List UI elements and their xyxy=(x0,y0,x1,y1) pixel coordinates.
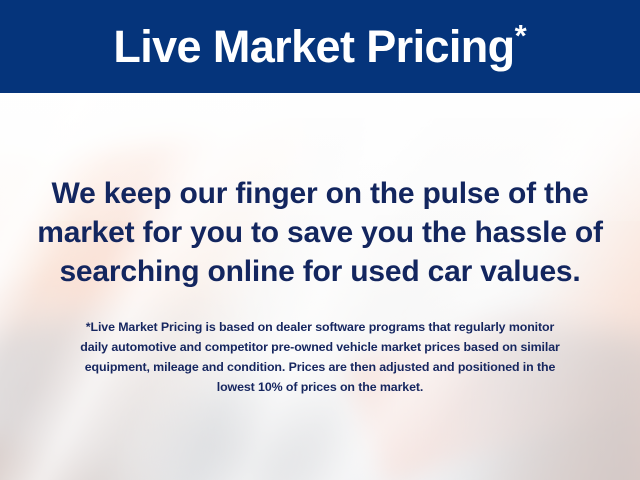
disclaimer-line-1: *Live Market Pricing is based on dealer … xyxy=(0,317,640,337)
page-title-footnote-marker: * xyxy=(515,18,527,53)
disclaimer-line-3: equipment, mileage and condition. Prices… xyxy=(0,357,640,377)
disclaimer: *Live Market Pricing is based on dealer … xyxy=(0,317,640,397)
disclaimer-line-2: daily automotive and competitor pre-owne… xyxy=(0,337,640,357)
live-market-pricing-slide: Live Market Pricing* We keep our finger … xyxy=(0,0,640,480)
headline-line-1: We keep our finger on the pulse of the xyxy=(0,174,640,213)
disclaimer-line-4: lowest 10% of prices on the market. xyxy=(0,377,640,397)
headline: We keep our finger on the pulse of the m… xyxy=(0,174,640,291)
page-title: Live Market Pricing* xyxy=(113,20,526,69)
header-band: Live Market Pricing* xyxy=(0,0,640,93)
headline-line-3: searching online for used car values. xyxy=(0,252,640,291)
headline-line-2: market for you to save you the hassle of xyxy=(0,213,640,252)
page-title-text: Live Market Pricing xyxy=(113,21,514,72)
